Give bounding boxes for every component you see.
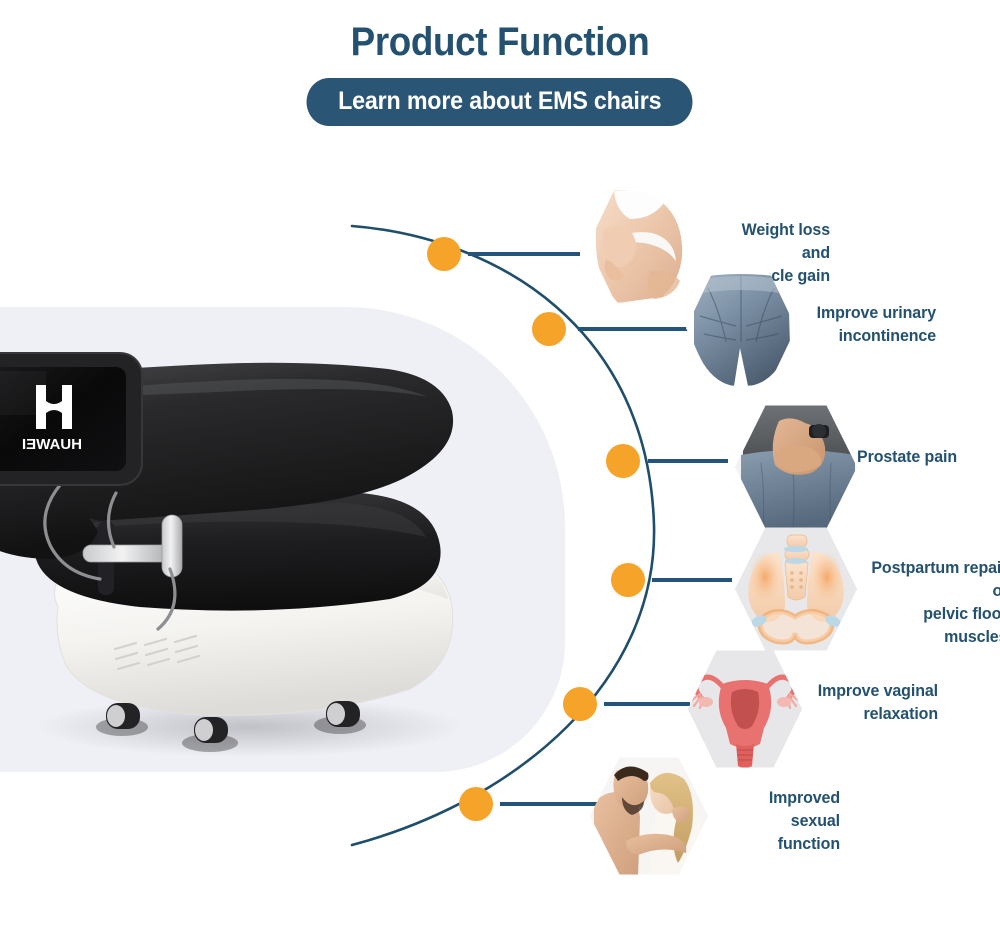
vaginal-relaxation-hex-image: [688, 648, 802, 770]
feature-item-weight-loss[interactable]: Weight loss and muscle gain: [588, 185, 698, 305]
applicator-handle: [162, 515, 182, 577]
learn-more-button[interactable]: Learn more about EMS chairs: [307, 78, 693, 126]
bullet-dot-3: [606, 444, 640, 478]
feature-label-vaginal-relaxation: Improve vaginal relaxation: [816, 680, 938, 726]
feature-item-urinary-incontinence[interactable]: Improve urinary incontinence: [686, 268, 796, 388]
monitor-arm-horizontal: [83, 545, 171, 562]
feature-item-sexual-function[interactable]: Improved sexual function: [590, 755, 708, 877]
feature-item-vaginal-relaxation[interactable]: Improve vaginal relaxation: [688, 648, 802, 770]
feature-item-prostate-pain[interactable]: Prostate pain: [735, 403, 857, 531]
prostate-pain-hex-image: [735, 403, 857, 531]
pelvic-floor-hex-image: [735, 525, 857, 653]
product-image-panel: HUAWEI: [0, 307, 565, 772]
screen-brand-text: HUAWEI: [22, 436, 82, 453]
control-screen: HUAWEI: [0, 353, 142, 485]
ems-chair-illustration: HUAWEI: [0, 307, 565, 772]
bullet-dot-4: [611, 563, 645, 597]
feature-item-pelvic-floor[interactable]: Postpartum repair of pelvic floor muscle…: [735, 525, 857, 653]
cta-container: Learn more about EMS chairs: [0, 78, 1000, 126]
bullet-dot-5: [563, 687, 597, 721]
weight-loss-hex-image: [588, 185, 698, 305]
bullet-dot-1: [427, 237, 461, 271]
page-title: Product Function: [40, 0, 960, 62]
header: Product Function Learn more about EMS ch…: [0, 0, 1000, 126]
urinary-incontinence-hex-image: [686, 268, 796, 388]
infographic-canvas: Product Function Learn more about EMS ch…: [0, 0, 1000, 937]
feature-label-prostate-pain: Prostate pain: [857, 446, 998, 469]
feature-label-pelvic-floor: Postpartum repair of pelvic floor muscle…: [857, 557, 1000, 649]
feature-label-urinary-incontinence: Improve urinary incontinence: [814, 302, 936, 348]
sexual-function-hex-image: [590, 755, 708, 877]
feature-label-sexual-function: Improved sexual function: [720, 787, 840, 856]
bullet-dot-6: [459, 787, 493, 821]
